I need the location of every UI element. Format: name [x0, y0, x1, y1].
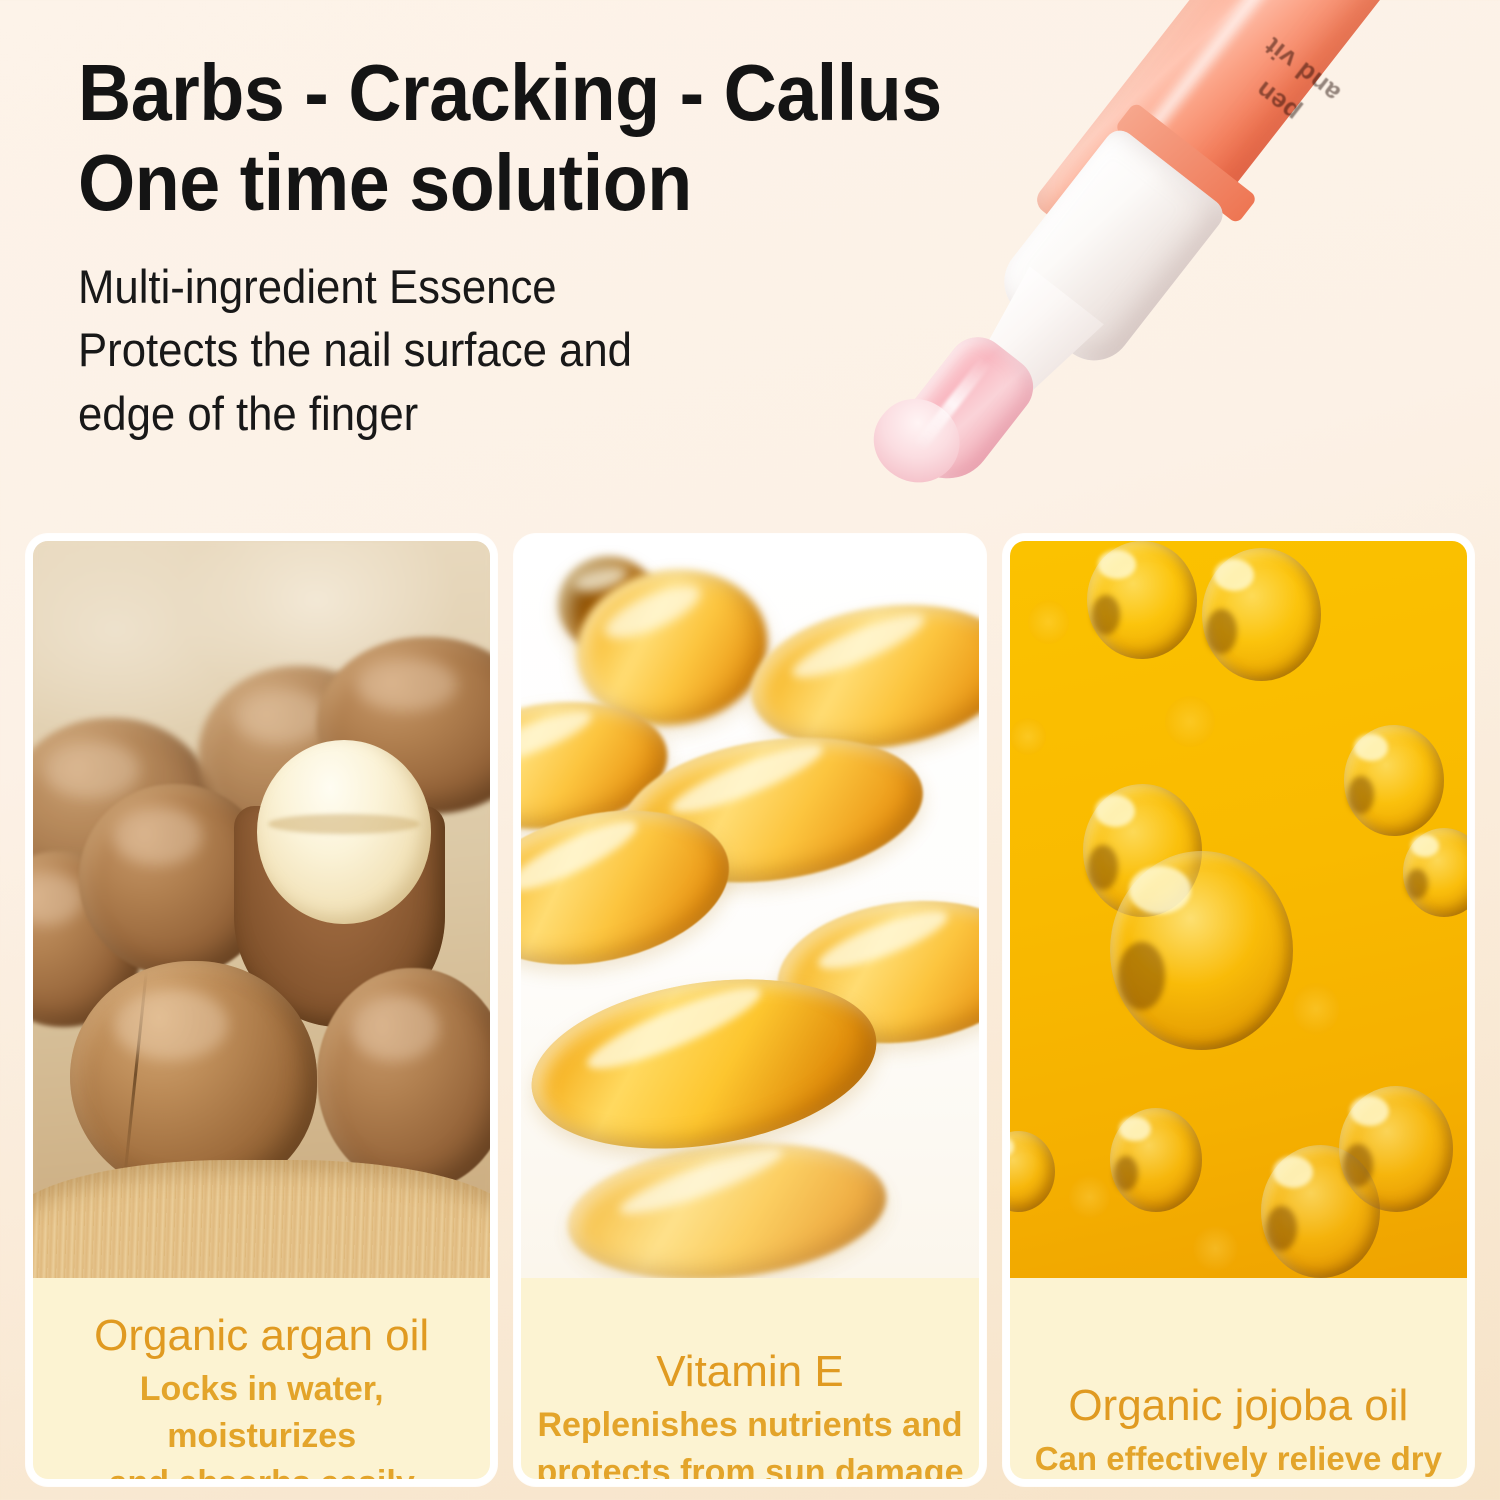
- oil-spot: [1193, 1226, 1239, 1270]
- oil-bubble: [1110, 851, 1293, 1050]
- oil-bubble: [1403, 828, 1467, 916]
- oil-bubble: [1202, 548, 1321, 681]
- argan-photo: [33, 541, 490, 1278]
- argan-caption-panel: Organic argan oil Locks in water, moistu…: [33, 1278, 490, 1479]
- header-text-block: Barbs - Cracking - Callus One time solut…: [78, 48, 1198, 445]
- jojoba-caption-panel: Organic jojoba oil Can effectively relie…: [1010, 1278, 1467, 1479]
- card-title: Vitamin E: [531, 1348, 968, 1396]
- card-body: Replenishes nutrients and protects from …: [531, 1402, 968, 1486]
- oil-spot: [1069, 1175, 1110, 1219]
- oil-spot: [1293, 983, 1339, 1035]
- oil-bubble: [1344, 725, 1445, 836]
- oil-spot: [1165, 696, 1215, 748]
- oil-bubble: [1087, 541, 1197, 659]
- card-title: Organic argan oil: [43, 1312, 480, 1360]
- card-body: Locks in water, moisturizes and absorbs …: [43, 1366, 480, 1486]
- nut-kernel: [257, 740, 431, 924]
- ingredient-card-jojoba: Organic jojoba oil Can effectively relie…: [1003, 534, 1474, 1486]
- ingredient-card-argan: Organic argan oil Locks in water, moistu…: [26, 534, 497, 1486]
- card-title: Organic jojoba oil: [1020, 1382, 1457, 1430]
- page-subheadline: Multi-ingredient Essence Protects the na…: [78, 255, 1120, 445]
- ingredient-card-vitamin-e: Vitamin E Replenishes nutrients and prot…: [514, 534, 985, 1486]
- wooden-bowl: [33, 1160, 490, 1278]
- vitamin-e-caption-panel: Vitamin E Replenishes nutrients and prot…: [521, 1278, 978, 1479]
- oil-bubble: [1010, 1131, 1056, 1212]
- jojoba-photo: [1010, 541, 1467, 1278]
- oil-bubble: [1110, 1108, 1201, 1211]
- page-headline: Barbs - Cracking - Callus One time solut…: [78, 48, 1108, 229]
- oil-bubble: [1339, 1086, 1453, 1211]
- card-body: Can effectively relieve dry skin: [1020, 1436, 1457, 1486]
- ingredient-card-row: Organic argan oil Locks in water, moistu…: [26, 534, 1474, 1486]
- vitamin-e-photo: [521, 541, 978, 1278]
- softgel-shape: [561, 1129, 893, 1278]
- oil-spot: [1028, 600, 1069, 644]
- oil-spot: [1010, 718, 1047, 755]
